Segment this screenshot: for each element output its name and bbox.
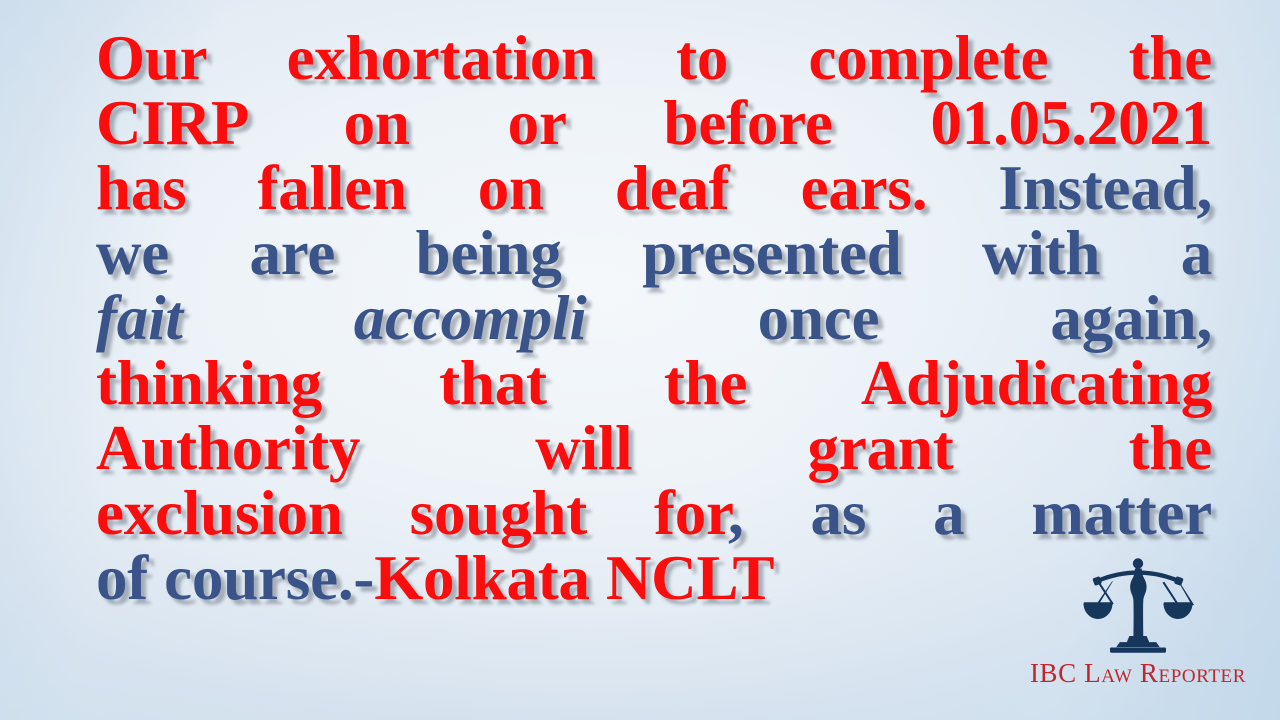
logo-wordmark: IBC Law Reporter [1030, 658, 1246, 689]
quote-run: Authority will grant the [96, 413, 1212, 483]
quote-run: CIRP on or before 01.05.2021 [96, 88, 1212, 158]
quote-run: once again, [587, 283, 1212, 353]
quote-line-7: Authority will grant the [96, 416, 1212, 481]
slide-canvas: Our exhortation to complete theCIRP on o… [0, 0, 1280, 720]
quote-run: Kolkata NCLT [374, 543, 774, 613]
quote-run: Our exhortation to complete the [96, 23, 1212, 93]
ibc-law-reporter-logo: IBC Law Reporter [1012, 556, 1264, 704]
quote-run: Instead, [998, 153, 1212, 223]
quote-line-5: fait accompli once again, [96, 286, 1212, 351]
quote-run: we are being presented with a [96, 218, 1212, 288]
quote-line-2: CIRP on or before 01.05.2021 [96, 91, 1212, 156]
quote-run: of course.- [96, 543, 374, 613]
quote-line-8: exclusion sought for, as a matter [96, 481, 1212, 546]
quote-run: thinking that the Adjudicating [96, 348, 1212, 418]
quote-line-4: we are being presented with a [96, 221, 1212, 286]
quote-line-1: Our exhortation to complete the [96, 26, 1212, 91]
quote-line-6: thinking that the Adjudicating [96, 351, 1212, 416]
quote-run: fait accompli [96, 283, 587, 353]
quote-run: exclusion sought for [96, 478, 728, 548]
scales-of-justice-icon [1082, 556, 1194, 656]
quote-run: , as a matter [728, 478, 1212, 548]
quote-line-3: has fallen on deaf ears. Instead, [96, 156, 1212, 221]
quote-run: has fallen on deaf ears. [96, 153, 998, 223]
quote-text-block: Our exhortation to complete theCIRP on o… [96, 26, 1212, 611]
